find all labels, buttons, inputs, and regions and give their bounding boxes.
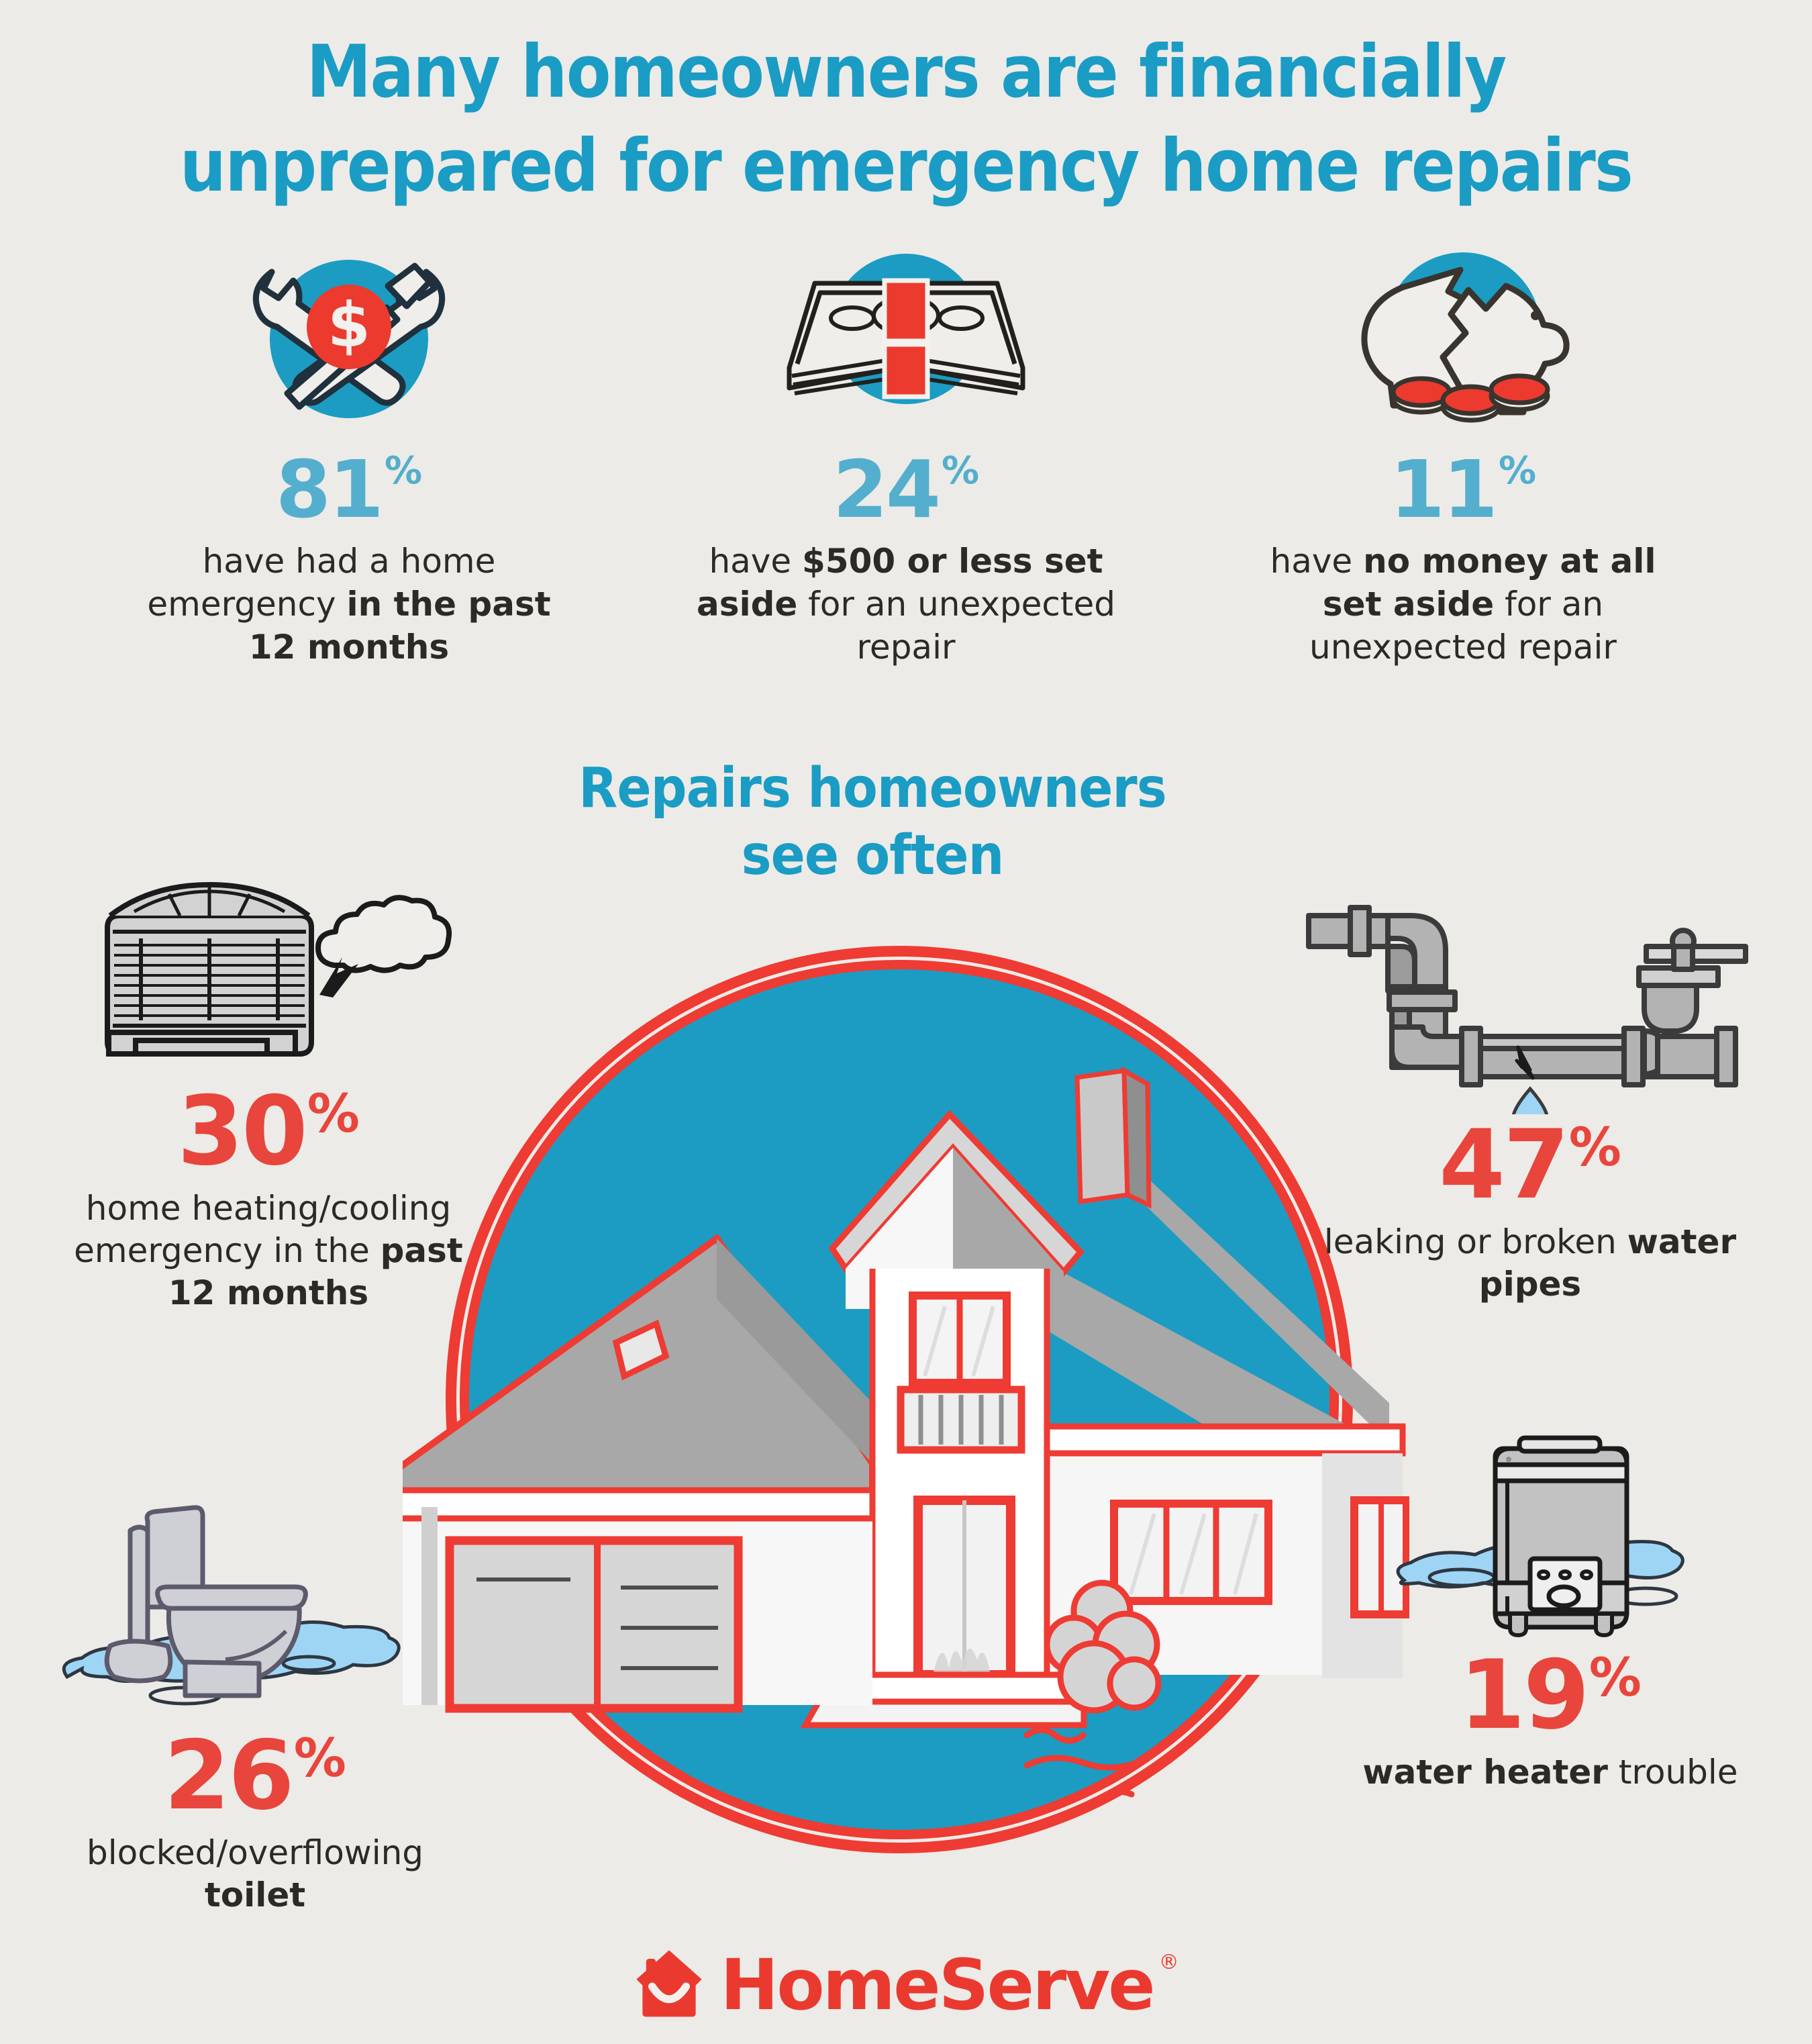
percent-symbol: % <box>1499 452 1536 490</box>
repair-number: 26 <box>164 1729 293 1824</box>
leaking-water-heater-icon <box>1342 1416 1758 1648</box>
repair-caption: water heater trouble <box>1342 1751 1758 1794</box>
page-title: Many homeowners are financially unprepar… <box>91 26 1721 214</box>
registered-trademark-symbol: ® <box>1159 1951 1179 1974</box>
homeserve-logo[interactable]: HomeServe ® <box>0 1947 1812 2023</box>
repair-caption: home heating/cooling emergency in the pa… <box>60 1187 476 1314</box>
repair-number: 47 <box>1439 1118 1568 1213</box>
repair-caption: blocked/overflowing toilet <box>40 1832 470 1916</box>
section-title-line-2: see often <box>502 822 1243 889</box>
repair-number: 19 <box>1459 1648 1588 1743</box>
homeserve-house-smile-icon <box>633 1947 705 2023</box>
svg-text:$: $ <box>328 289 370 361</box>
percent-symbol: % <box>307 1088 360 1140</box>
stat-card-no-money: 11 % have no money at all set aside for … <box>1228 248 1698 669</box>
logo-wordmark: HomeServe <box>720 1950 1153 2020</box>
stat-card-home-emergency: $ 81 % have had a home emergency in the … <box>114 248 584 669</box>
percent-symbol: % <box>942 452 979 490</box>
repair-value: 30 % <box>60 1084 476 1179</box>
repair-card-hvac: 30 % home heating/cooling emergency in t… <box>60 879 476 1314</box>
repair-number: 30 <box>177 1084 306 1179</box>
repair-caption: leaking or broken water pipes <box>1295 1221 1765 1306</box>
repair-card-toilet: 26 % blocked/overflowing toilet <box>40 1497 470 1916</box>
section-title: Repairs homeowners see often <box>502 755 1243 889</box>
page-title-line-2: unprepared for emergency home repairs <box>91 119 1721 213</box>
stat-number: 81 <box>276 450 382 529</box>
repair-value: 19 % <box>1342 1648 1758 1743</box>
cash-stack-icon <box>765 248 1047 443</box>
house-in-blue-circle-illustration <box>403 933 1409 1873</box>
hvac-unit-steam-icon <box>60 879 476 1084</box>
overflowing-toilet-plunger-icon <box>40 1497 470 1729</box>
stat-number: 24 <box>833 450 939 529</box>
stat-value: 24 % <box>833 450 979 529</box>
percent-symbol: % <box>294 1733 346 1785</box>
repair-card-pipes: 47 % leaking or broken water pipes <box>1295 893 1765 1306</box>
top-stats-row: $ 81 % have had a home emergency in the … <box>114 248 1698 669</box>
stat-number: 11 <box>1390 450 1496 529</box>
stat-value: 11 % <box>1390 450 1536 529</box>
broken-piggy-bank-icon <box>1322 248 1604 443</box>
section-title-line-1: Repairs homeowners <box>502 755 1243 822</box>
crossed-wrench-screwdriver-dollar-icon: $ <box>208 248 490 443</box>
stat-value: 81 % <box>276 450 422 529</box>
stat-card-money-set-aside: 24 % have $500 or less set aside for an … <box>671 248 1141 669</box>
percent-symbol: % <box>1589 1652 1642 1704</box>
repair-value: 47 % <box>1295 1118 1765 1213</box>
stat-caption: have $500 or less set aside for an unexp… <box>685 540 1127 669</box>
infographic-page: Many homeowners are financially unprepar… <box>0 0 1812 2044</box>
repair-card-water-heater: 19 % water heater trouble <box>1342 1416 1758 1794</box>
stat-caption: have no money at all set aside for an un… <box>1242 540 1684 669</box>
percent-symbol: % <box>1569 1122 1621 1174</box>
page-title-line-1: Many homeowners are financially <box>91 26 1721 119</box>
repair-value: 26 % <box>40 1729 470 1824</box>
broken-water-pipe-icon <box>1295 893 1765 1118</box>
percent-symbol: % <box>385 452 422 490</box>
stat-caption: have had a home emergency in the past 12… <box>128 540 570 669</box>
